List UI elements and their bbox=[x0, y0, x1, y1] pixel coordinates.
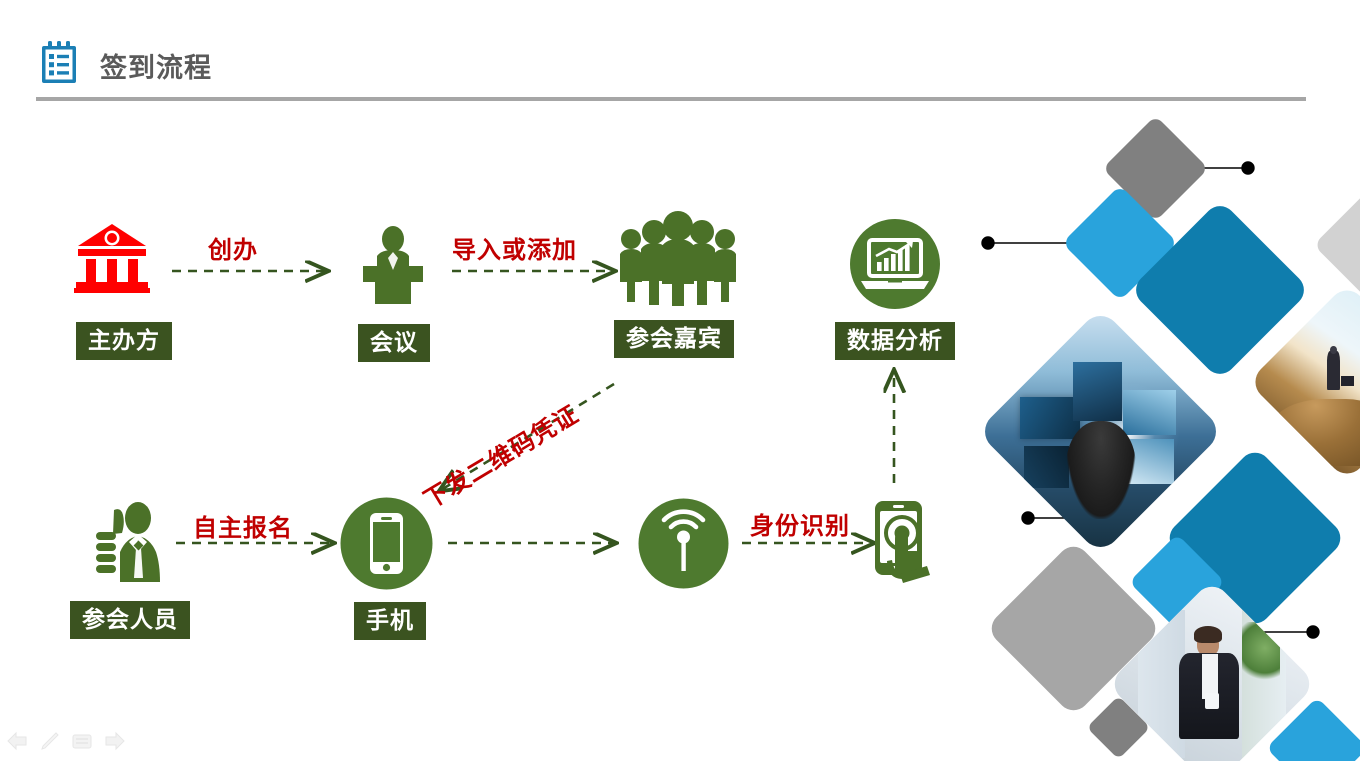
connector-label-create: 创办 bbox=[208, 230, 258, 265]
node-label-attending-guests: 参会嘉宾 bbox=[614, 320, 734, 358]
node-label-participants: 参会人员 bbox=[70, 601, 190, 639]
node-signal-scan[interactable] bbox=[637, 497, 730, 595]
pencil-icon[interactable] bbox=[38, 729, 62, 753]
thumbs-up-person-icon bbox=[92, 500, 178, 589]
smartphone-circle-icon bbox=[339, 496, 434, 596]
diamond-light-gray-right-edge bbox=[1313, 188, 1360, 301]
header-divider bbox=[36, 97, 1306, 101]
connector-label-identity-recognition: 身份识别 bbox=[750, 506, 850, 541]
node-mobile-phone[interactable]: 手机 bbox=[339, 496, 434, 596]
laptop-chart-circle-icon bbox=[849, 218, 941, 315]
connector-label-self-register: 自主报名 bbox=[193, 508, 293, 543]
clipboard-checklist-icon bbox=[42, 38, 84, 88]
presentation-toolbar[interactable] bbox=[0, 720, 200, 761]
node-organizer[interactable]: 主办方 bbox=[74, 222, 150, 299]
bank-building-icon bbox=[74, 222, 150, 299]
page-title: 签到流程 bbox=[100, 46, 212, 85]
node-identity-check[interactable] bbox=[869, 497, 941, 594]
slide-canvas: 签到流程 bbox=[0, 0, 1360, 761]
node-label-meeting: 会议 bbox=[358, 324, 430, 362]
node-label-mobile-phone: 手机 bbox=[354, 602, 426, 640]
node-label-organizer: 主办方 bbox=[76, 322, 172, 360]
wifi-signal-circle-icon bbox=[637, 497, 730, 595]
left-arrow-icon[interactable] bbox=[6, 729, 30, 753]
people-group-icon bbox=[617, 208, 739, 311]
node-label-data-analysis: 数据分析 bbox=[835, 322, 955, 360]
node-data-analysis[interactable]: 数据分析 bbox=[849, 218, 941, 315]
connector-label-issue-qr-credential: 下发二维码凭证 bbox=[416, 395, 584, 515]
slide-header: 签到流程 bbox=[0, 0, 1360, 104]
menu-lines-icon[interactable] bbox=[70, 729, 94, 753]
node-participants[interactable]: 参会人员 bbox=[92, 500, 178, 589]
speaker-podium-icon bbox=[357, 226, 429, 309]
node-attending-guests[interactable]: 参会嘉宾 bbox=[617, 208, 739, 311]
connector-label-import-or-add: 导入或添加 bbox=[452, 230, 577, 265]
phone-touch-icon bbox=[869, 497, 941, 594]
node-meeting[interactable]: 会议 bbox=[357, 226, 429, 309]
right-arrow-icon[interactable] bbox=[102, 729, 126, 753]
